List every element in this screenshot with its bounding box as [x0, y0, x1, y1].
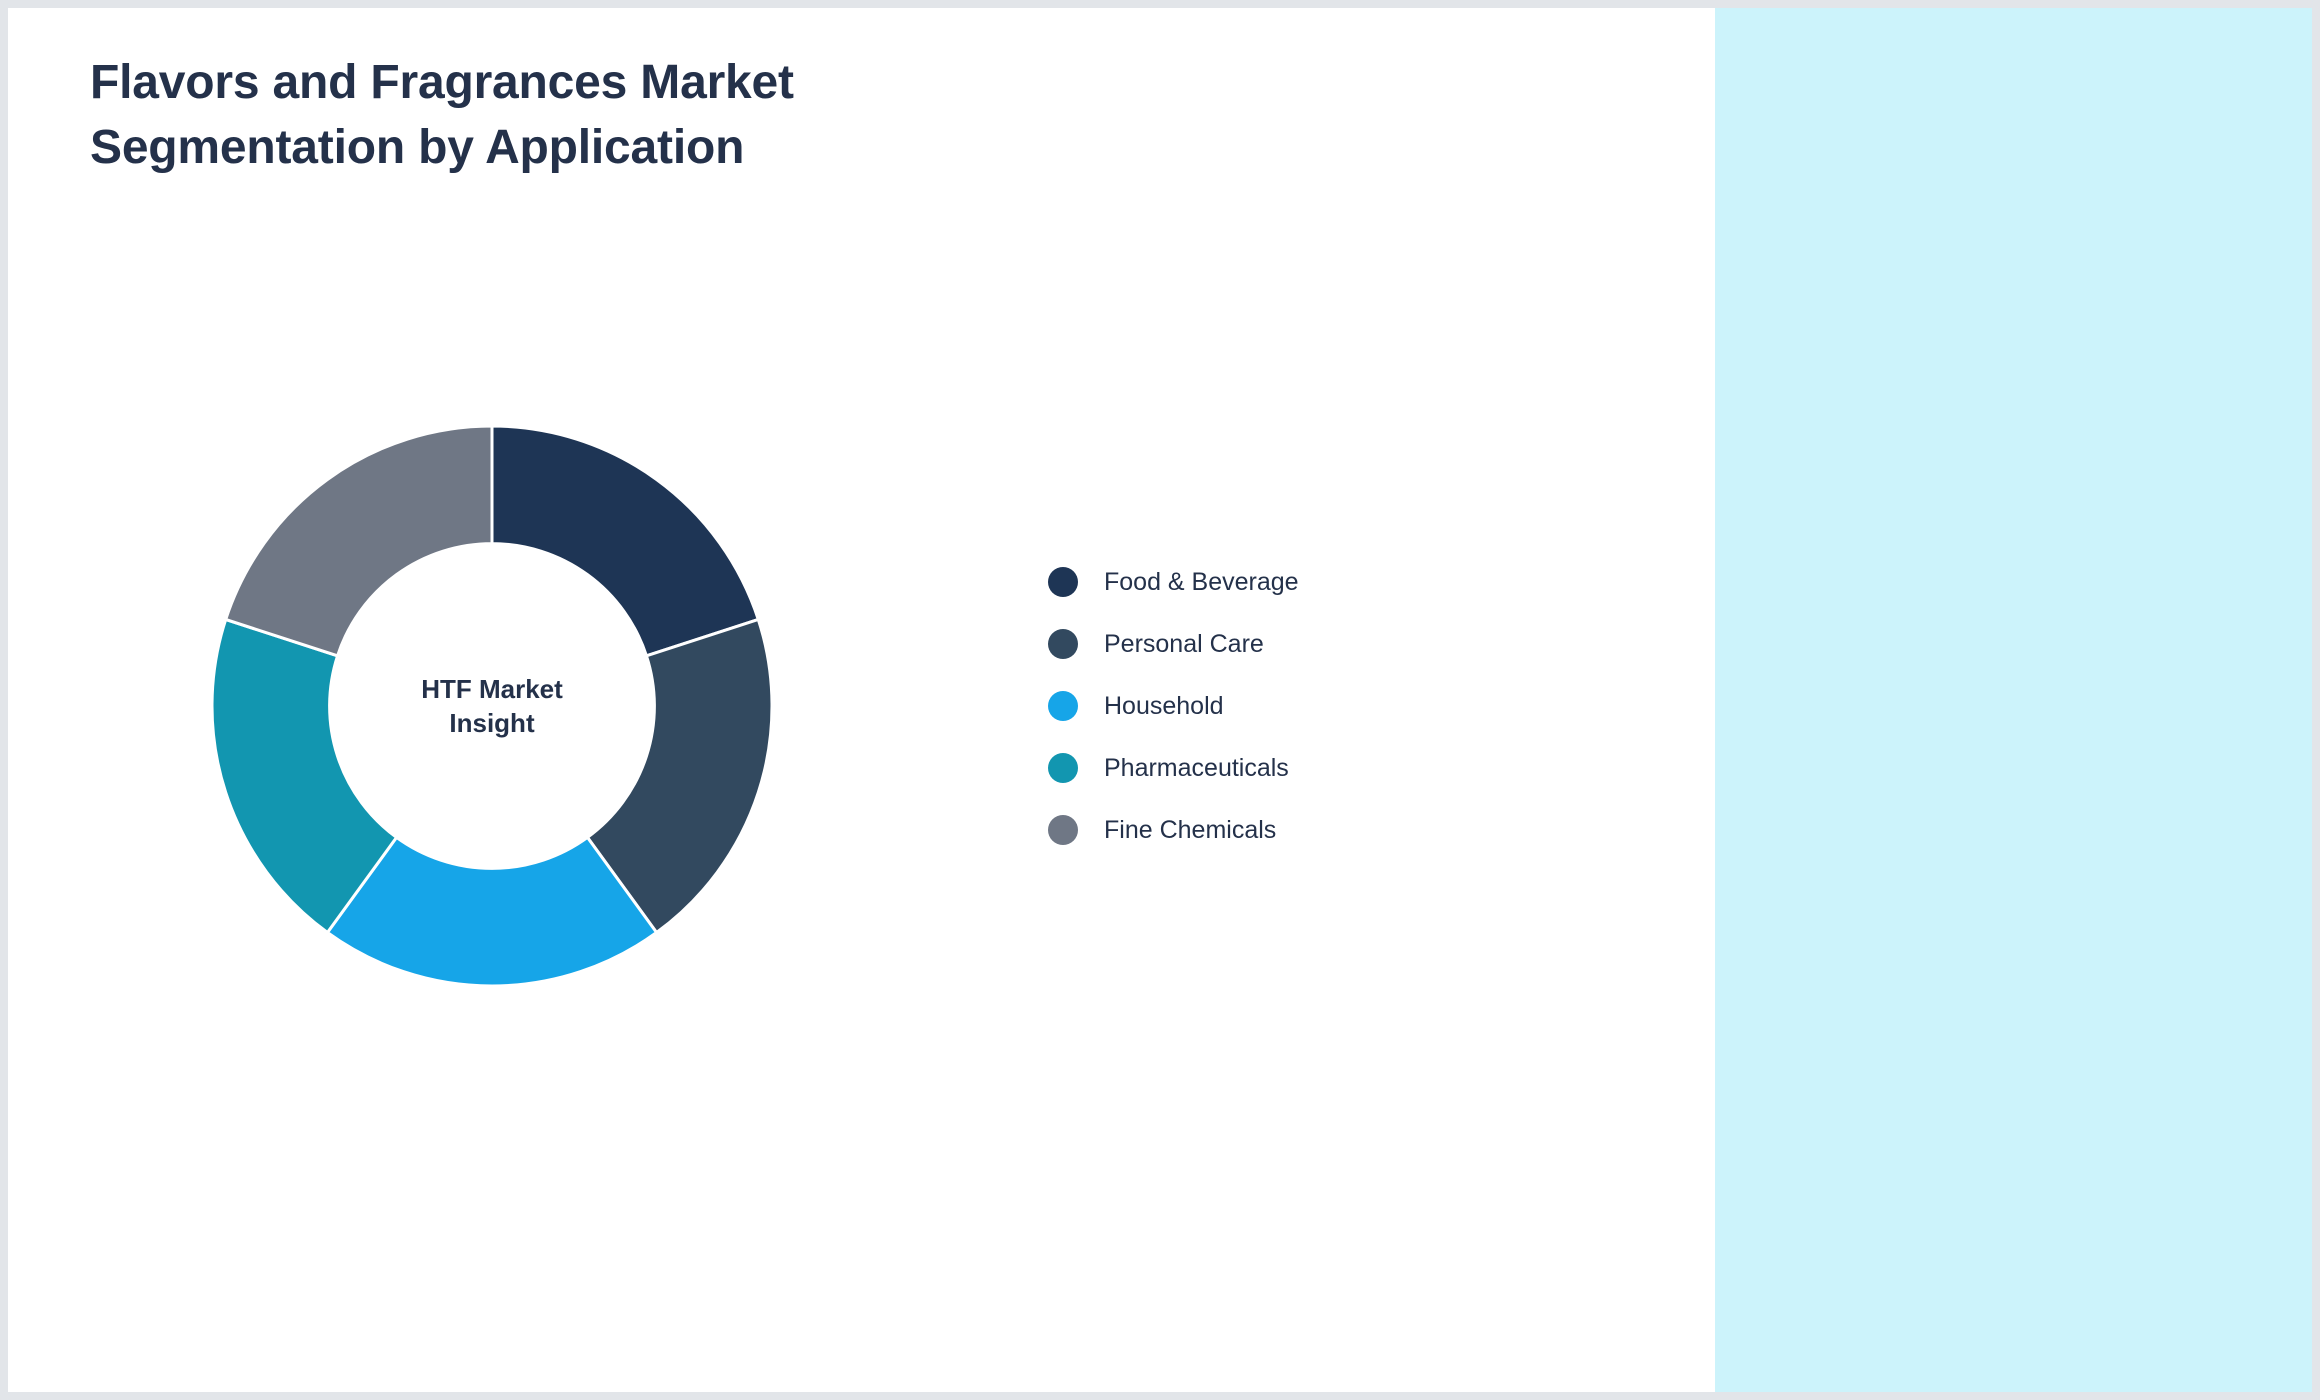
legend-item-label: Food & Beverage	[1104, 568, 1299, 597]
legend-color-swatch-icon	[1048, 815, 1078, 845]
legend-color-swatch-icon	[1048, 753, 1078, 783]
legend-item[interactable]: Personal Care	[1048, 622, 1299, 666]
donut-chart: HTF Market Insight	[212, 426, 772, 986]
legend-color-swatch-icon	[1048, 567, 1078, 597]
legend-item[interactable]: Fine Chemicals	[1048, 808, 1299, 852]
chart-legend: Food & BeveragePersonal CareHouseholdPha…	[1048, 560, 1299, 852]
legend-item-label: Fine Chemicals	[1104, 816, 1276, 845]
donut-slice[interactable]	[226, 426, 492, 656]
legend-item[interactable]: Food & Beverage	[1048, 560, 1299, 604]
legend-item-label: Personal Care	[1104, 630, 1264, 659]
chart-panel: Flavors and Fragrances Market Segmentati…	[8, 8, 1715, 1392]
legend-item-label: Pharmaceuticals	[1104, 754, 1289, 783]
infographic-canvas: Flavors and Fragrances Market Segmentati…	[0, 0, 2320, 1400]
legend-color-swatch-icon	[1048, 629, 1078, 659]
legend-item[interactable]: Household	[1048, 684, 1299, 728]
legend-color-swatch-icon	[1048, 691, 1078, 721]
legend-item[interactable]: Pharmaceuticals	[1048, 746, 1299, 790]
summary-panel: HTF Market Intelligence 39.5	[1715, 8, 2312, 1392]
page-title-line-1: Flavors and Fragrances Market	[90, 50, 1090, 115]
donut-chart-svg	[212, 426, 772, 986]
page-title-line-2: Segmentation by Application	[90, 115, 1090, 180]
donut-slice[interactable]	[492, 426, 758, 656]
legend-item-label: Household	[1104, 692, 1224, 721]
page-title: Flavors and Fragrances Market Segmentati…	[90, 50, 1090, 181]
donut-slice-group	[212, 426, 772, 986]
